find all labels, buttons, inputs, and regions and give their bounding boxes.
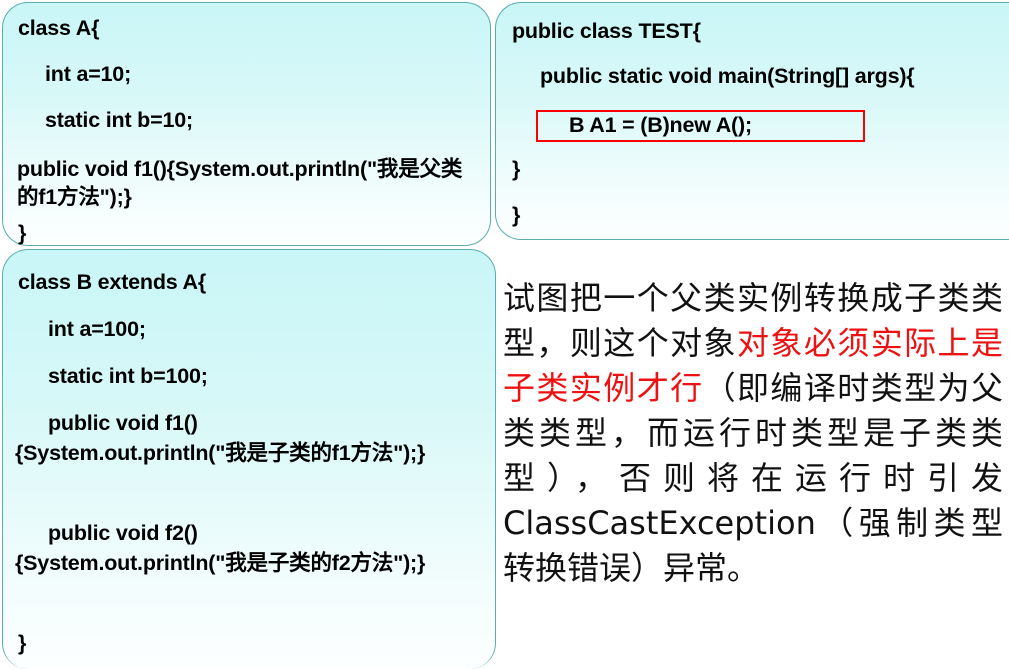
code-panel-class-b: class B extends A{ int a=100; static int… — [2, 249, 496, 669]
code-line-test-0: public class TEST{ — [512, 19, 701, 44]
code-line-b-2: static int b=100; — [48, 364, 208, 389]
explanation-paragraph: 试图把一个父类实例转换成子类类型，则这个对象对象必须实际上是子类实例才行（即编译… — [503, 276, 1003, 591]
highlight-rectangle-cast-statement — [536, 110, 865, 142]
code-line-a-1: int a=10; — [45, 62, 131, 87]
code-line-b-1: int a=100; — [48, 317, 146, 342]
code-line-b-7: } — [18, 631, 26, 656]
code-line-b-0: class B extends A{ — [18, 270, 206, 295]
code-line-test-4: } — [512, 203, 520, 228]
code-line-test-3: } — [512, 157, 520, 182]
code-line-b-6: {System.out.println("我是子类的f2方法");} — [15, 549, 475, 577]
code-line-b-5: public void f2() — [48, 521, 198, 546]
code-line-a-4: } — [18, 221, 26, 246]
code-line-a-3: public void f1(){System.out.println("我是父… — [17, 155, 473, 211]
code-line-a-0: class A{ — [18, 16, 99, 41]
code-line-test-1: public static void main(String[] args){ — [540, 64, 914, 89]
code-line-b-4: {System.out.println("我是子类的f1方法");} — [15, 439, 475, 467]
code-line-a-2: static int b=10; — [45, 108, 193, 133]
code-panel-class-a: class A{ int a=10; static int b=10; publ… — [2, 2, 491, 246]
code-line-b-3: public void f1() — [48, 411, 198, 436]
explanation-text-block: 试图把一个父类实例转换成子类类型，则这个对象对象必须实际上是子类实例才行（即编译… — [503, 276, 1003, 591]
